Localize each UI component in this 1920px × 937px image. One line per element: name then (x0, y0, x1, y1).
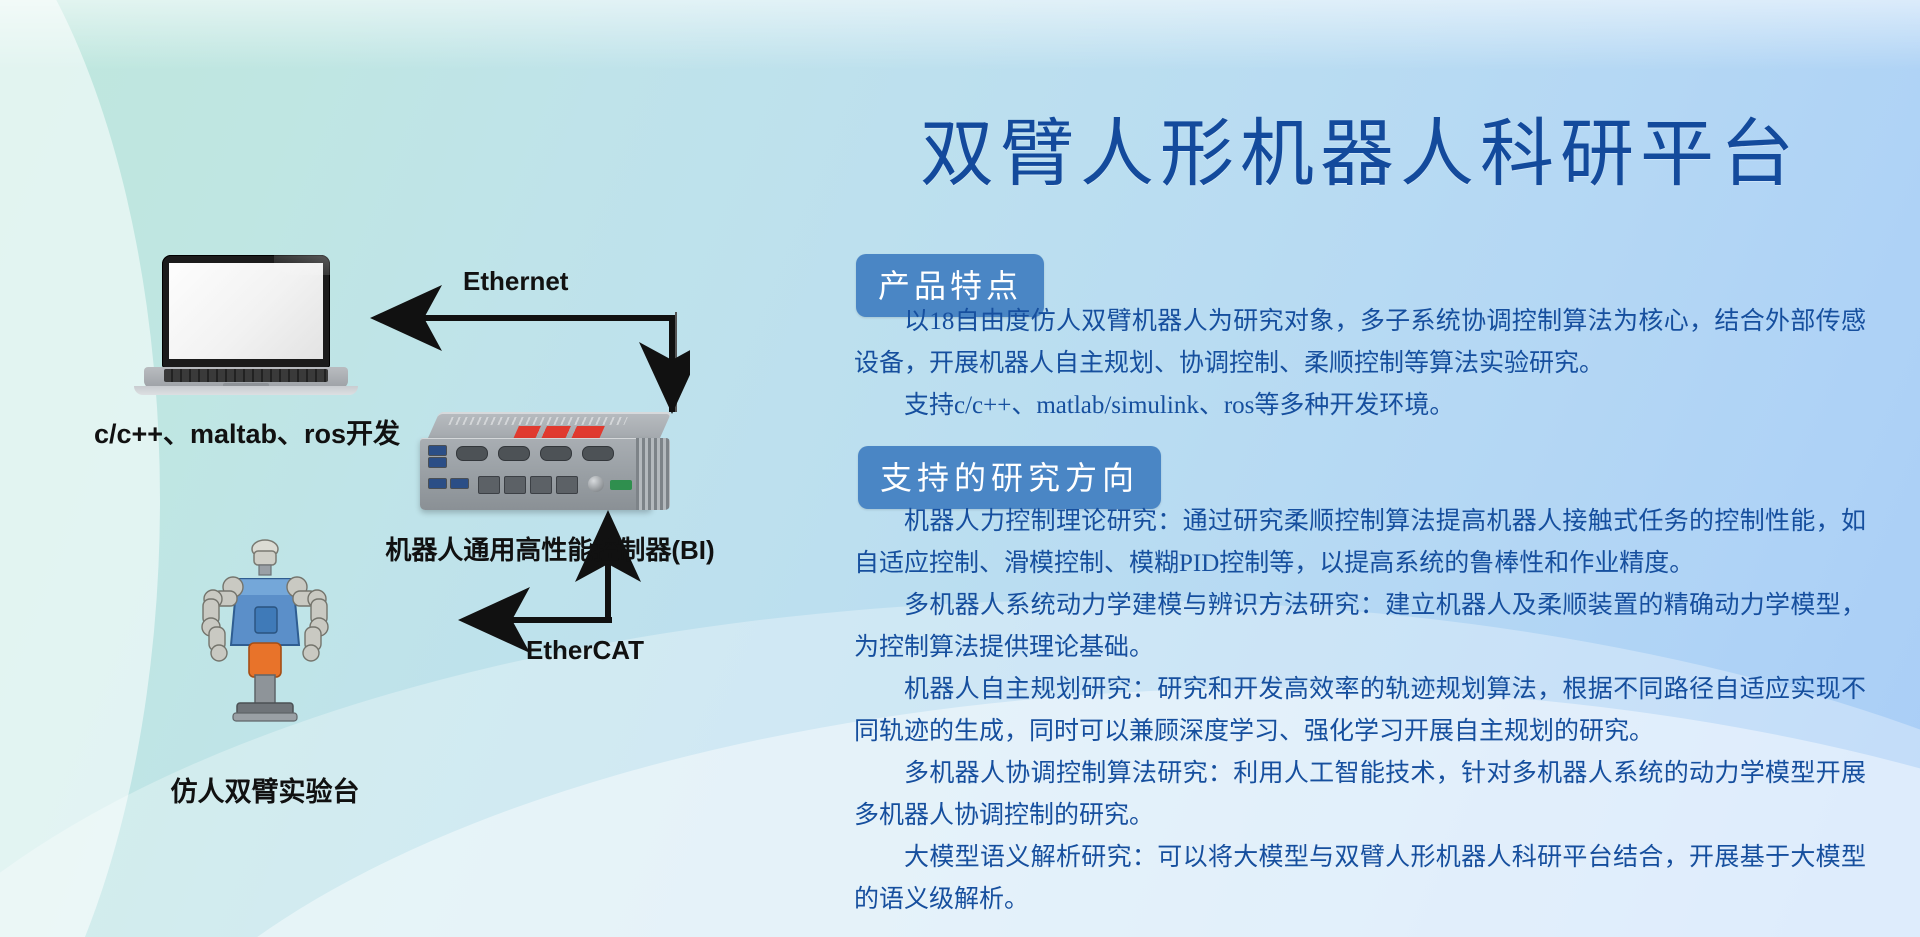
robot-label: 仿人双臂实验台 (120, 770, 410, 809)
system-diagram: c/c++、maltab、ros开发 (0, 0, 690, 937)
direction-paragraph-5: 大模型语义解析研究：可以将大模型与双臂人形机器人科研平台结合，开展基于大模型的语… (854, 837, 1866, 921)
controller-usb-port (428, 478, 447, 489)
controller-db9-port (498, 446, 530, 461)
laptop-lid-gloss (274, 255, 330, 275)
controller-db9-port (582, 446, 614, 461)
ethernet-link-label: Ethernet (463, 266, 568, 297)
controller-ethernet-port (530, 476, 552, 494)
controller-ethernet-port (478, 476, 500, 494)
page-title: 双臂人形机器人科研平台 (840, 118, 1880, 192)
laptop-foot (134, 386, 358, 395)
controller-heatsink-fins (636, 438, 670, 510)
controller-label: 机器人通用高性能控制器(BI) (360, 530, 740, 567)
humanoid-robot-icon (175, 535, 355, 755)
ethercat-link-label: EtherCAT (526, 635, 644, 666)
controller-ethernet-port (504, 476, 526, 494)
poster-canvas: c/c++、maltab、ros开发 (0, 0, 1920, 937)
laptop-lid (162, 255, 330, 368)
direction-paragraph-4: 多机器人协调控制算法研究：利用人工智能技术，针对多机器人系统的动力学模型开展多机… (854, 753, 1866, 837)
features-paragraph-1: 以18自由度仿人双臂机器人为研究对象，多子系统协调控制算法为核心，结合外部传感设… (854, 301, 1866, 385)
content-column: 双臂人形机器人科研平台 产品特点 以18自由度仿人双臂机器人为研究对象，多子系统… (830, 0, 1890, 937)
controller-front-panel (420, 438, 652, 510)
direction-paragraph-2: 多机器人系统动力学建模与辨识方法研究：建立机器人及柔顺装置的精确动力学模型，为控… (854, 585, 1866, 669)
industrial-controller-icon (420, 412, 670, 522)
controller-usb-port (428, 445, 447, 456)
controller-antenna-knob (588, 476, 604, 492)
controller-usb-port (428, 457, 447, 468)
laptop-label: c/c++、maltab、ros开发 (92, 412, 402, 451)
controller-usb-port (450, 478, 469, 489)
controller-top-vents (448, 417, 628, 425)
direction-paragraph-1: 机器人力控制理论研究：通过研究柔顺控制算法提高机器人接触式任务的控制性能，如自适… (854, 501, 1866, 585)
controller-db9-port (540, 446, 572, 461)
features-paragraph-2: 支持c/c++、matlab/simulink、ros等多种开发环境。 (854, 385, 1866, 427)
laptop-screen (169, 263, 323, 359)
laptop-icon (128, 255, 363, 400)
laptop-keyboard (164, 369, 328, 382)
controller-terminal-block (610, 480, 632, 490)
direction-paragraph-3: 机器人自主规划研究：研究和开发高效率的轨迹规划算法，根据不同路径自适应实现不同轨… (854, 669, 1866, 753)
controller-ethernet-port (556, 476, 578, 494)
section-badge-directions: 支持的研究方向 (858, 446, 1161, 509)
controller-db9-port (456, 446, 488, 461)
